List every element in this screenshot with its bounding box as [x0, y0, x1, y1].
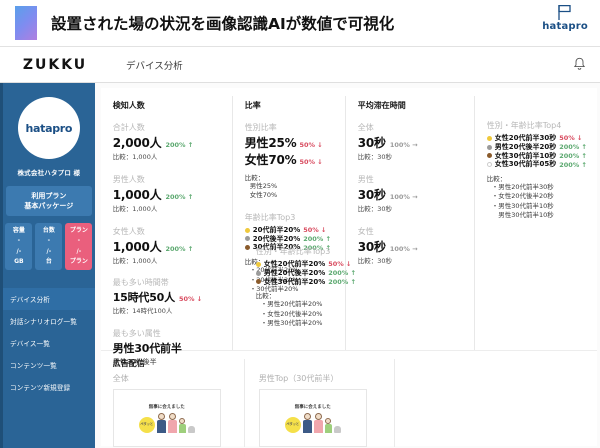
- ad-item-male-top-label: 男性Top（30代前半）: [259, 373, 394, 384]
- metric-peak-hour: 最も多い時間帯 15時代50人 50% ↓ 比較：14時代100人: [113, 277, 222, 317]
- metric-peak-hour-value: 15時代50人: [113, 289, 175, 305]
- stat-card-plan-title: プラン: [66, 226, 91, 236]
- ad-item-total: 全体 無事に会えました ペタッと: [113, 359, 244, 447]
- stat-card-plan-v2: /-: [66, 247, 91, 257]
- metric-stay-total-delta: 100% →: [390, 141, 418, 149]
- ad-item-total-label: 全体: [113, 373, 244, 384]
- rank-delta: 200% ↑: [559, 161, 587, 169]
- metric-stay-female-label: 女性: [358, 226, 464, 237]
- stat-card-devices-v1: -: [36, 236, 61, 246]
- metric-total-compare: 比較：1,000人: [113, 153, 222, 163]
- metric-gender-age-top3-label: 性別・年齢比率Top3: [256, 246, 372, 257]
- rank-text: 女性20代前半20%: [264, 260, 326, 269]
- ad-thumb-text: 無事に会えました: [149, 404, 185, 410]
- sidebar-avatar-text: hataprо: [26, 122, 73, 135]
- plan-box[interactable]: 利用プラン 基本パッケージ: [6, 186, 92, 216]
- rank-delta: 200% ↑: [303, 235, 331, 243]
- sidebar-item-device-list[interactable]: デバイス一覧: [3, 332, 95, 354]
- rank-text: 男性20代後半20秒: [495, 143, 556, 152]
- metric-gender-ratio: 性別比率 男性25% 50% ↓ 女性70% 50% ↓ 比較： 男性25%: [245, 122, 335, 201]
- person-icon: [303, 413, 312, 433]
- sidebar-avatar: hataprо: [18, 97, 80, 159]
- plan-box-line1: 利用プラン: [8, 191, 90, 201]
- sidebar-item-device-analysis[interactable]: デバイス分析: [3, 288, 95, 310]
- legend-dot-icon: [245, 245, 250, 250]
- metric-gender-age-top4-label: 性別・年齢比率Top4: [487, 120, 587, 131]
- ad-thumbnail[interactable]: 無事に会えました ペタッと: [259, 389, 367, 447]
- metric-gender-age-top4: 性別・年齢比率Top4 女性20代前半30秒 50% ↓ 男性20代後半20秒 …: [487, 120, 587, 221]
- ad-thumbnail[interactable]: 無事に会えました ペタッと: [113, 389, 221, 447]
- metric-female-delta: 200% ↑: [165, 245, 193, 253]
- ad-illustration: ペタッと: [139, 413, 195, 433]
- metric-male-people: 男性人数 1,000人 200% ↑ 比較：1,000人: [113, 174, 222, 215]
- metric-gender-compare-head: 比較：: [245, 172, 335, 182]
- ad-illustration: ペタッと: [285, 413, 341, 433]
- main-content: 検知人数 合計人数 2,000人 200% ↑ 比較：1,000人 男性人数: [95, 83, 600, 448]
- banner-gradient-swatch: [15, 6, 37, 40]
- column-title-stay: 平均滞在時間: [358, 100, 464, 111]
- stat-card-devices-title: 台数: [36, 226, 61, 236]
- ad-item-male-top: 男性Top（30代前半） 無事に会えました ペタッと: [244, 359, 394, 447]
- metric-male-delta: 200% ↑: [165, 193, 193, 201]
- stat-card-devices-v2: /-: [36, 247, 61, 257]
- rank-text: 20代前半20%: [253, 226, 301, 235]
- legend-dot-icon: [256, 271, 261, 276]
- rank-delta: 50% ↓: [303, 226, 326, 234]
- rank-row: 男性20代後半20% 200% ↑: [256, 269, 372, 278]
- metric-top-attribute-label: 最も多い属性: [113, 328, 222, 339]
- metric-stay-total-compare: 比較：30秒: [358, 153, 464, 163]
- body: hataprо 株式会社ハタプロ 様 利用プラン 基本パッケージ 容量 - /-…: [0, 83, 600, 448]
- metric-stay-male-compare: 比較：30秒: [358, 205, 464, 215]
- ga-top3-compare-head: 比較：: [256, 290, 372, 300]
- rank-row: 女性30代前半20% 200% ↑: [256, 278, 372, 287]
- legend-dot-icon: [487, 145, 492, 150]
- legend-dot-icon: [256, 262, 261, 267]
- legend-dot-icon: [487, 136, 492, 141]
- rank-delta: 200% ↑: [559, 143, 587, 151]
- metric-stay-male: 男性 30秒 100% → 比較：30秒: [358, 174, 464, 215]
- sidebar-item-content-new[interactable]: コンテンツ新規登録: [3, 376, 95, 398]
- rank-row: 女性30代前半10秒 200% ↑: [487, 152, 587, 161]
- company-name: 株式会社ハタプロ 様: [17, 167, 80, 177]
- stat-card-capacity-v2: /-: [6, 247, 31, 257]
- banner-logo-text: hataprо: [542, 21, 588, 32]
- top-banner: 設置された場の状況を画像認識AIが数値で可視化 hataprо: [0, 0, 600, 47]
- metric-stay-male-value: 30秒: [358, 186, 386, 203]
- ga-top3-compare-item: ・女性20代後半20%: [256, 310, 372, 319]
- plan-box-line2: 基本パッケージ: [8, 201, 90, 211]
- flag-icon: [556, 4, 574, 21]
- metric-stay-male-delta: 100% →: [390, 193, 418, 201]
- metric-gender-compare-female: 女性70%: [245, 191, 335, 200]
- sidebar-nav: デバイス分析 対話シナリオログ一覧 デバイス一覧 コンテンツ一覧 コンテンツ新規…: [3, 288, 95, 398]
- sidebar-item-content-list[interactable]: コンテンツ一覧: [3, 354, 95, 376]
- metric-peak-hour-label: 最も多い時間帯: [113, 277, 222, 288]
- stat-card-devices-unit: 台: [36, 257, 61, 267]
- metric-stay-female: 女性 30秒 100% → 比較：30秒: [358, 226, 464, 267]
- stat-card-capacity-unit: GB: [6, 257, 31, 267]
- metric-female-people: 女性人数 1,000人 200% ↑ 比較：1,000人: [113, 226, 222, 267]
- metric-male-value: 1,000人: [113, 186, 162, 203]
- metric-gender-ratio-label: 性別比率: [245, 122, 335, 133]
- stat-card-capacity-v1: -: [6, 236, 31, 246]
- rank-row: 20代前半20% 50% ↓: [245, 226, 335, 235]
- person-icon: [179, 418, 186, 433]
- metric-gender-compare-male: 男性25%: [245, 182, 335, 191]
- column-title-detection: 検知人数: [113, 100, 222, 111]
- stat-card-plan[interactable]: プラン - /- プラン: [65, 223, 92, 270]
- ga-top3-compare-item: ・男性30代前半20%: [256, 319, 372, 328]
- rank-row: 女性30代前半05秒 200% ↑: [487, 160, 587, 169]
- ad-thumb-text: 無事に会えました: [295, 404, 331, 410]
- pet-icon: [334, 426, 341, 433]
- top4-compare-item: ・男性30代前半10秒: [487, 202, 587, 211]
- person-icon: [325, 418, 332, 433]
- metric-total-people: 合計人数 2,000人 200% ↑ 比較：1,000人: [113, 122, 222, 163]
- metric-gender-male-value: 男性25%: [245, 134, 297, 151]
- person-icon: [314, 413, 323, 433]
- ad-item-placeholder: [394, 359, 597, 447]
- metric-stay-total: 全体 30秒 100% → 比較：30秒: [358, 122, 464, 163]
- legend-dot-icon: [245, 228, 250, 233]
- rank-delta: 200% ↑: [328, 269, 356, 277]
- pet-icon: [188, 426, 195, 433]
- metric-female-value: 1,000人: [113, 238, 162, 255]
- metric-gender-age-top3: 性別・年齢比率Top3 女性20代前半20% 50% ↓ 男性20代後半20% …: [256, 246, 372, 329]
- column-title-ratio: 比率: [245, 100, 335, 111]
- page-title: デバイス分析: [126, 58, 183, 72]
- metric-peak-hour-compare: 比較：14時代100人: [113, 307, 222, 317]
- top4-compare-item: 男性30代前半10秒: [487, 211, 587, 220]
- legend-dot-icon: [245, 236, 250, 241]
- rank-text: 男性20代後半20%: [264, 269, 326, 278]
- metric-gender-female-delta: 50% ↓: [299, 158, 322, 166]
- rank-row: 女性20代前半30秒 50% ↓: [487, 134, 587, 143]
- legend-dot-icon: [256, 279, 261, 284]
- stat-cards: 容量 - /- GB 台数 - /- 台 プラン - /- プラン: [5, 223, 93, 270]
- metric-male-label: 男性人数: [113, 174, 222, 185]
- stat-card-capacity-title: 容量: [6, 226, 31, 236]
- rank-row: 女性20代前半20% 50% ↓: [256, 260, 372, 269]
- metric-stay-female-compare: 比較：30秒: [358, 257, 464, 267]
- stat-card-devices[interactable]: 台数 - /- 台: [35, 223, 62, 270]
- app-header: ZUKKU デバイス分析: [0, 47, 600, 83]
- metric-male-compare: 比較：1,000人: [113, 205, 222, 215]
- top4-compare-head: 比較：: [487, 173, 587, 183]
- person-icon: [157, 413, 166, 433]
- rank-delta: 50% ↓: [559, 134, 582, 142]
- sidebar: hataprо 株式会社ハタプロ 様 利用プラン 基本パッケージ 容量 - /-…: [0, 83, 95, 448]
- rank-text: 女性30代前半20%: [264, 278, 326, 287]
- metric-stay-female-delta: 100% →: [390, 245, 418, 253]
- stat-card-capacity[interactable]: 容量 - /- GB: [5, 223, 32, 270]
- column-stay-top4: 性別・年齢比率Top4 女性20代前半30秒 50% ↓ 男性20代後半20秒 …: [474, 96, 597, 350]
- metric-peak-hour-delta: 50% ↓: [179, 295, 202, 303]
- bell-icon[interactable]: [573, 57, 586, 71]
- person-icon: [168, 413, 177, 433]
- metric-stay-total-value: 30秒: [358, 134, 386, 151]
- metric-gender-female-value: 女性70%: [245, 151, 297, 168]
- metric-female-label: 女性人数: [113, 226, 222, 237]
- rank-delta: 200% ↑: [328, 278, 356, 286]
- ads-section-title: 広告配信: [113, 358, 145, 369]
- rank-delta: 200% ↑: [559, 152, 587, 160]
- stat-card-plan-v1: -: [66, 236, 91, 246]
- metric-stay-total-label: 全体: [358, 122, 464, 133]
- rank-delta: 50% ↓: [328, 260, 351, 268]
- metric-gender-male-delta: 50% ↓: [299, 141, 322, 149]
- legend-dot-icon: [487, 153, 492, 158]
- rank-text: 女性30代前半05秒: [495, 160, 556, 169]
- legend-dot-icon: [487, 162, 492, 167]
- rank-row: 男性20代後半20秒 200% ↑: [487, 143, 587, 152]
- ad-badge-icon: ペタッと: [139, 417, 155, 433]
- rank-text: 女性30代前半10秒: [495, 152, 556, 161]
- top4-compare-item: ・男性20代前半30秒: [487, 183, 587, 192]
- metric-total-delta: 200% ↑: [165, 141, 193, 149]
- top4-compare-item: ・女性20代後半20秒: [487, 192, 587, 201]
- app-root: 設置された場の状況を画像認識AIが数値で可視化 hataprо ZUKKU デバ…: [0, 0, 600, 448]
- metric-stay-male-label: 男性: [358, 174, 464, 185]
- sidebar-item-scenario-log[interactable]: 対話シナリオログ一覧: [3, 310, 95, 332]
- brand-zukku[interactable]: ZUKKU: [0, 57, 110, 73]
- metric-total-label: 合計人数: [113, 122, 222, 133]
- metric-age-top3-label: 年齢比率Top3: [245, 212, 335, 223]
- metric-total-value: 2,000人: [113, 134, 162, 151]
- column-detection-count: 検知人数 合計人数 2,000人 200% ↑ 比較：1,000人 男性人数: [101, 96, 232, 350]
- dashboard-panel: 検知人数 合計人数 2,000人 200% ↑ 比較：1,000人 男性人数: [101, 88, 597, 446]
- metric-top-attribute-value: 男性30代前半: [113, 340, 182, 356]
- ga-top3-compare-item: ・男性20代前半20%: [256, 300, 372, 309]
- metric-female-compare: 比較：1,000人: [113, 257, 222, 267]
- hatapro-brand-logo: hataprо: [542, 4, 588, 32]
- stat-card-plan-unit: プラン: [66, 257, 91, 267]
- rank-text: 女性20代前半30秒: [495, 134, 556, 143]
- banner-title: 設置された場の状況を画像認識AIが数値で可視化: [51, 12, 394, 34]
- ad-badge-icon: ペタッと: [285, 417, 301, 433]
